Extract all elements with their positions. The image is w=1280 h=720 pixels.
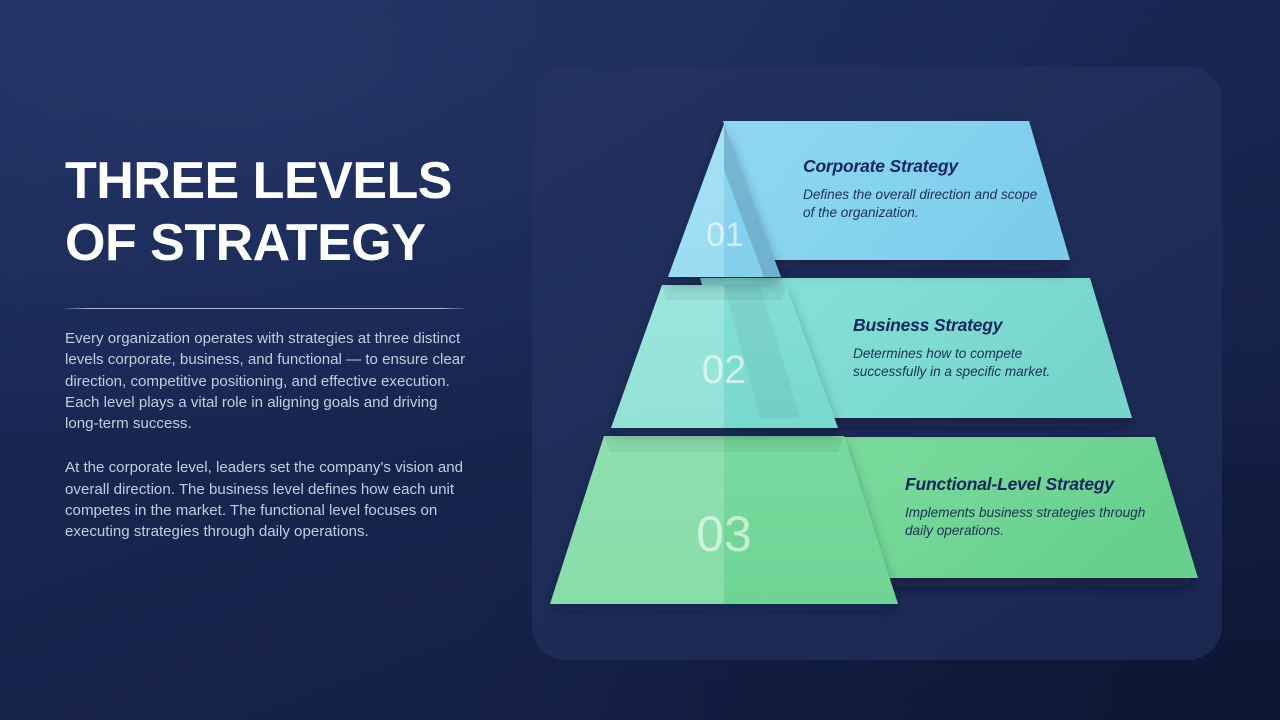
intro-paragraph-2: At the corporate level, leaders set the … bbox=[65, 457, 467, 542]
page-title: THREE LEVELS OF STRATEGY bbox=[65, 150, 470, 274]
page-title-line-2: OF STRATEGY bbox=[65, 212, 470, 274]
tier-2-description: Determines how to compete successfully i… bbox=[853, 345, 1068, 380]
tier-2-heading: Business Strategy bbox=[853, 315, 1068, 336]
title-divider bbox=[65, 308, 465, 309]
left-text-column: THREE LEVELS OF STRATEGY Every organizat… bbox=[65, 150, 470, 543]
tier-3-heading: Functional-Level Strategy bbox=[905, 474, 1150, 495]
tier-1-description: Defines the overall direction and scope … bbox=[803, 186, 1048, 221]
tier-3-description: Implements business strategies through d… bbox=[905, 504, 1150, 539]
page-title-line-1: THREE LEVELS bbox=[65, 150, 470, 212]
intro-paragraph-1: Every organization operates with strateg… bbox=[65, 328, 467, 434]
tier-3-text-block: Functional-Level Strategy Implements bus… bbox=[905, 474, 1150, 539]
tier-1-text-block: Corporate Strategy Defines the overall d… bbox=[803, 156, 1048, 221]
tier-2-text-block: Business Strategy Determines how to comp… bbox=[853, 315, 1068, 380]
tier-1-heading: Corporate Strategy bbox=[803, 156, 1048, 177]
